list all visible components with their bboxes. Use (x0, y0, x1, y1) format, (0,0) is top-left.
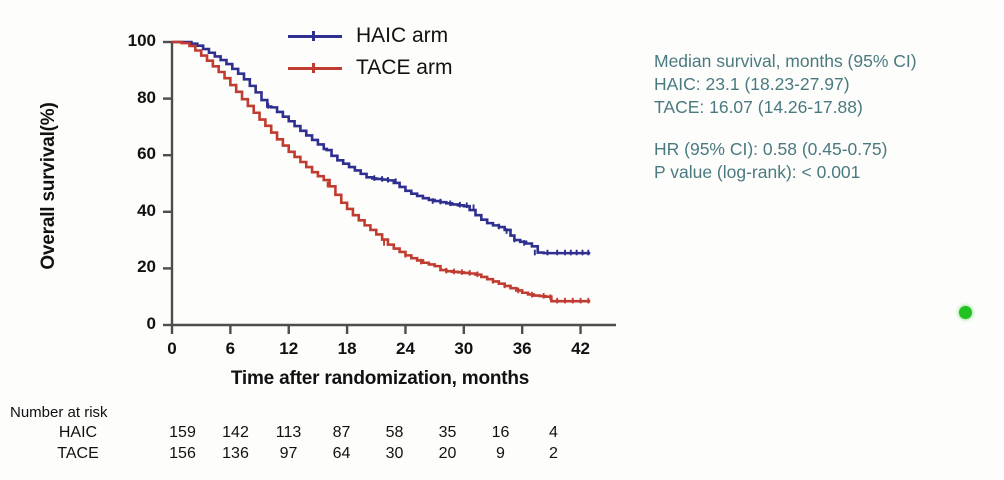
legend-line-swatch-icon (288, 29, 342, 43)
legend-item-haic: HAIC arm (288, 20, 503, 52)
x-tick-0: 0 (152, 339, 192, 359)
risk-cell: 64 (315, 445, 368, 463)
risk-cell: 156 (156, 445, 209, 463)
risk-cell: 30 (368, 445, 421, 463)
x-tick-18: 18 (327, 339, 367, 359)
risk-cell: 159 (156, 424, 209, 442)
risk-row-label: HAIC (8, 424, 156, 442)
y-tick-20: 20 (110, 257, 156, 277)
y-tick-100: 100 (110, 31, 156, 51)
risk-cell: 2 (527, 445, 580, 463)
risk-cell: 87 (315, 424, 368, 442)
risk-cell: 58 (368, 424, 421, 442)
x-tick-24: 24 (385, 339, 425, 359)
legend-item-tace: TACE arm (288, 52, 503, 84)
cursor-pointer-dot (959, 306, 972, 319)
x-tick-12: 12 (269, 339, 309, 359)
stat-line: HR (95% CI): 0.58 (0.45-0.75) (654, 138, 999, 161)
legend-label: HAIC arm (356, 24, 448, 48)
stats-spacer (654, 119, 999, 138)
x-axis-title: Time after randomization, months (150, 368, 610, 390)
stat-line: HAIC: 23.1 (18.23-27.97) (654, 73, 999, 96)
risk-cell: 16 (474, 424, 527, 442)
chart-legend: HAIC armTACE arm (288, 20, 503, 84)
y-tick-60: 60 (110, 144, 156, 164)
hazard-ratio-block: HR (95% CI): 0.58 (0.45-0.75)P value (lo… (654, 138, 999, 184)
x-tick-36: 36 (502, 339, 542, 359)
stat-line: P value (log-rank): < 0.001 (654, 161, 999, 184)
stat-line: Median survival, months (95% CI) (654, 50, 999, 73)
risk-cell: 4 (527, 424, 580, 442)
risk-cell: 136 (209, 445, 262, 463)
risk-cell: 9 (474, 445, 527, 463)
x-tick-30: 30 (444, 339, 484, 359)
y-axis-title: Overall survival(%) (38, 71, 60, 301)
number-at-risk-table: Number at risk HAIC159142113875835164TAC… (8, 404, 638, 464)
y-tick-80: 80 (110, 88, 156, 108)
y-tick-0: 0 (110, 314, 156, 334)
legend-line-swatch-icon (288, 61, 342, 75)
x-tick-6: 6 (210, 339, 250, 359)
risk-cell: 142 (209, 424, 262, 442)
risk-row-haic: HAIC159142113875835164 (8, 422, 638, 443)
stat-line: TACE: 16.07 (14.26-17.88) (654, 96, 999, 119)
legend-label: TACE arm (356, 56, 452, 80)
risk-cell: 20 (421, 445, 474, 463)
x-tick-42: 42 (561, 339, 601, 359)
risk-row-label: TACE (8, 445, 156, 463)
y-tick-40: 40 (110, 201, 156, 221)
risk-cell: 97 (262, 445, 315, 463)
risk-table-body: HAIC159142113875835164TACE15613697643020… (8, 422, 638, 464)
statistics-panel: Median survival, months (95% CI)HAIC: 23… (654, 50, 999, 184)
risk-table-title: Number at risk (8, 404, 638, 421)
risk-cell: 35 (421, 424, 474, 442)
risk-row-tace: TACE1561369764302092 (8, 443, 638, 464)
risk-cell: 113 (262, 424, 315, 442)
median-survival-block: Median survival, months (95% CI)HAIC: 23… (654, 50, 999, 119)
